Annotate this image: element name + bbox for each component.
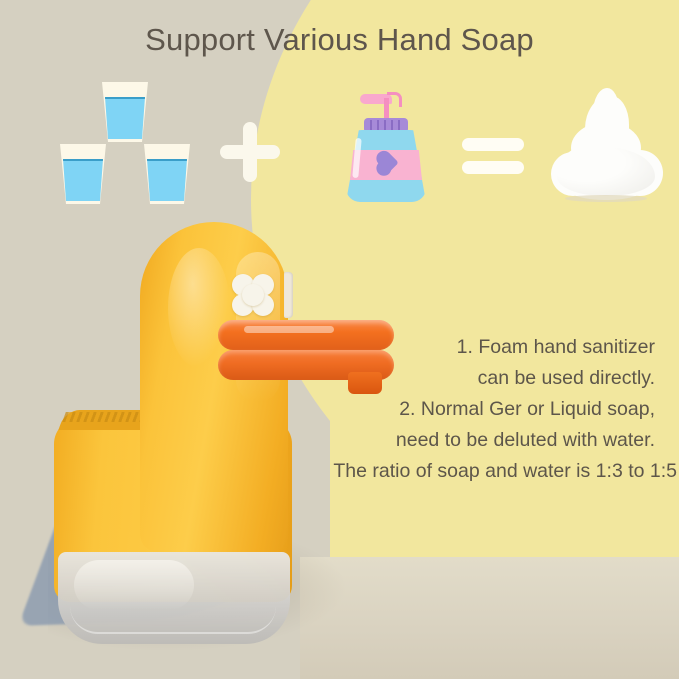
collar-rib: [398, 120, 400, 131]
water-glass-icon: [58, 144, 108, 204]
pump-hook: [387, 92, 402, 107]
collar-rib: [370, 120, 372, 131]
water-glass-icon: [100, 82, 150, 142]
page-title: Support Various Hand Soap: [0, 22, 679, 58]
infographic-canvas: Support Various Hand Soap: [0, 0, 679, 679]
collar-rib: [377, 120, 379, 131]
instruction-line: The ratio of soap and water is 1:3 to 1:…: [323, 456, 677, 487]
equals-bar-bottom: [462, 161, 524, 174]
foam-shading: [557, 148, 655, 196]
dispenser-tank: [58, 552, 290, 644]
foam-base-shadow: [565, 195, 647, 202]
foam-peak: [593, 88, 619, 122]
water-glasses-group: [42, 82, 212, 207]
instruction-line: can be used directly.: [323, 363, 655, 394]
equals-icon: [462, 138, 524, 174]
water-glass-icon: [142, 144, 192, 204]
duck-eye-icon: [232, 274, 274, 316]
foam-swirl-icon: [547, 86, 665, 204]
collar-rib: [384, 120, 386, 131]
eye-core: [242, 284, 264, 306]
water-fill: [58, 159, 108, 201]
plus-icon: [220, 122, 280, 182]
instructions-block: 1. Foam hand sanitizer can be used direc…: [323, 332, 655, 487]
equals-bar-top: [462, 138, 524, 151]
water-fill: [100, 97, 150, 139]
instruction-line: 1. Foam hand sanitizer: [323, 332, 655, 363]
tank-rim: [70, 606, 276, 634]
collar-rib: [391, 120, 393, 131]
instruction-line: need to be deluted with water.: [323, 425, 655, 456]
tank-highlight: [74, 560, 194, 610]
instruction-line: 2. Normal Ger or Liquid soap,: [323, 394, 655, 425]
plus-bar-vertical: [243, 122, 257, 182]
water-fill: [142, 159, 192, 201]
soap-pump-bottle-icon: [338, 88, 434, 208]
beak-highlight: [244, 326, 334, 333]
sensor-tab: [284, 272, 293, 318]
